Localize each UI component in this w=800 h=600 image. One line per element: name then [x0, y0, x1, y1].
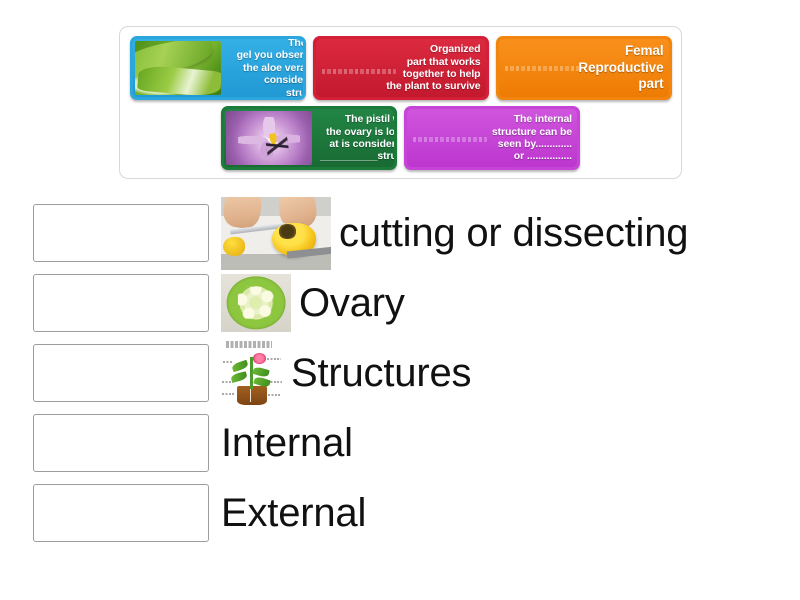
card-label: Organized part that works together to he…	[316, 43, 486, 93]
answer-body: Internal	[221, 421, 800, 465]
answer-body: Ovary	[221, 274, 800, 332]
answer-rows-list: cutting or dissecting Ovary	[0, 198, 800, 548]
green-pepper-cross-section-image	[221, 274, 291, 332]
card-label: Femal Reproductive part	[499, 43, 669, 93]
pepper-seeds-shape	[278, 224, 297, 239]
labelled-plant-diagram-image	[221, 340, 283, 406]
answer-row: Internal	[0, 408, 800, 478]
word-bank-row-1: The clear gel you observed in the aloe v…	[120, 27, 681, 100]
pepper-seeds-shape	[238, 287, 274, 319]
aloe-vera-leaves-image	[135, 41, 221, 95]
drop-target-box-2[interactable]	[33, 274, 209, 332]
word-bank-row-2: The pistil which the ovary is located at…	[120, 100, 681, 170]
diagram-title-text	[226, 341, 272, 348]
plant-leaf-shape	[231, 360, 249, 372]
activity-stage: The clear gel you observed in the aloe v…	[0, 0, 800, 600]
answer-text: cutting or dissecting	[339, 211, 688, 255]
plant-pot-shape	[237, 386, 267, 404]
plant-leaf-shape	[230, 371, 248, 383]
draggable-card-pistil-ovary[interactable]: The pistil which the ovary is located at…	[221, 106, 397, 170]
diagram-label	[223, 361, 233, 363]
diagram-label	[222, 393, 234, 395]
word-bank-container: The clear gel you observed in the aloe v…	[119, 26, 682, 179]
hands-cutting-yellow-pepper-image	[221, 197, 331, 270]
answer-body: External	[221, 491, 800, 535]
draggable-card-aloe-gel[interactable]: The clear gel you observed in the aloe v…	[130, 36, 306, 100]
diagram-label	[268, 394, 280, 396]
drop-target-box-1[interactable]	[33, 204, 209, 262]
drop-target-box-4[interactable]	[33, 414, 209, 472]
drop-target-box-3[interactable]	[33, 344, 209, 402]
card-inner: Organized part that works together to he…	[316, 39, 486, 97]
answer-row: cutting or dissecting	[0, 198, 800, 268]
card-label: The clear gel you observed in the aloe v…	[229, 39, 303, 97]
answer-row: Ovary	[0, 268, 800, 338]
card-inner: Femal Reproductive part	[499, 39, 669, 97]
purple-lily-flower-image	[226, 111, 312, 165]
draggable-card-female-reproductive[interactable]: Femal Reproductive part	[496, 36, 672, 100]
answer-body: cutting or dissecting	[221, 197, 800, 270]
answer-text: Ovary	[299, 281, 405, 325]
answer-text: External	[221, 491, 366, 535]
drop-target-box-5[interactable]	[33, 484, 209, 542]
card-label: The internal structure can be seen by...…	[407, 113, 577, 163]
diagram-label	[267, 358, 281, 360]
answer-row: External	[0, 478, 800, 548]
draggable-card-organized-part[interactable]: Organized part that works together to he…	[313, 36, 489, 100]
answer-row: Structures	[0, 338, 800, 408]
plant-flower-shape	[253, 353, 265, 364]
card-inner: The pistil which the ovary is located at…	[224, 109, 394, 167]
pepper-offcut-shape	[223, 237, 245, 256]
answer-text: Structures	[291, 351, 471, 395]
draggable-card-internal-structure[interactable]: The internal structure can be seen by...…	[404, 106, 580, 170]
answer-text: Internal	[221, 421, 353, 465]
card-label: The pistil which the ovary is located at…	[320, 113, 394, 163]
plant-leaf-shape	[252, 366, 270, 378]
card-inner: The internal structure can be seen by...…	[407, 109, 577, 167]
plant-root-shape	[250, 389, 252, 402]
answer-body: Structures	[221, 340, 800, 406]
card-inner: The clear gel you observed in the aloe v…	[133, 39, 303, 97]
